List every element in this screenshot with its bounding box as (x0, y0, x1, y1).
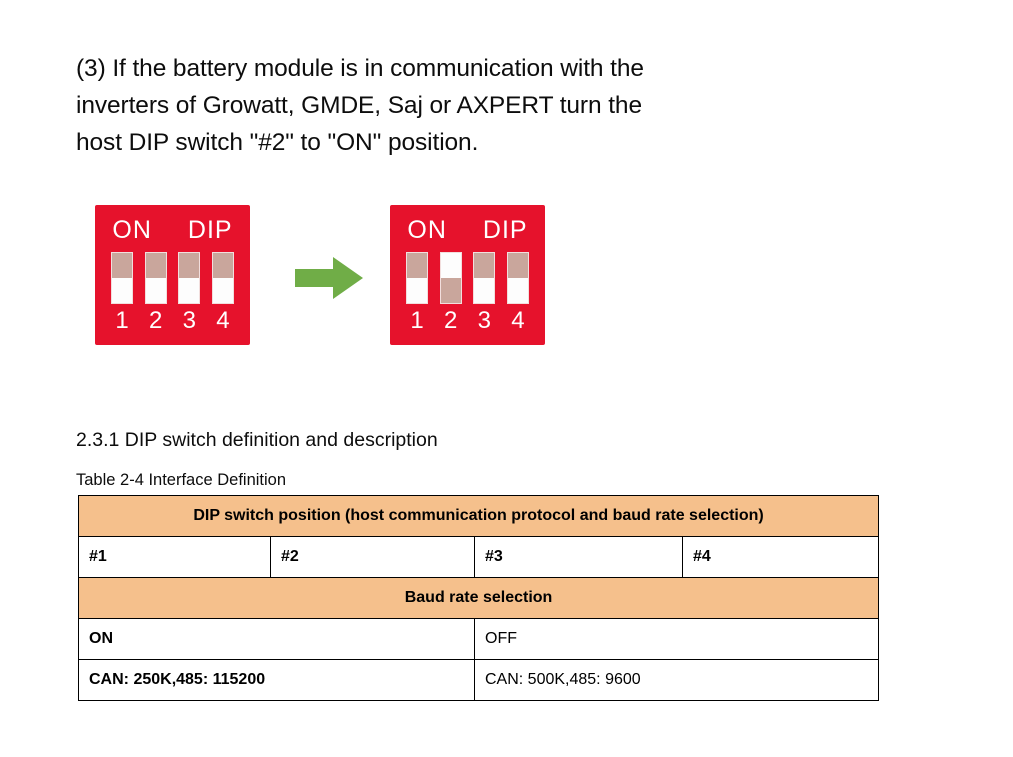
table-row-values: CAN: 250K,485: 115200 CAN: 500K,485: 960… (79, 660, 879, 701)
dip-switch-before-numbers: 1 2 3 4 (111, 308, 234, 338)
dip-label: DIP (483, 218, 528, 243)
state-cell-on: ON (79, 619, 475, 660)
dip-slider-1[interactable] (406, 252, 428, 304)
slider-actuator (508, 278, 528, 303)
on-label: ON (407, 218, 447, 243)
switch-cell-2: #2 (271, 537, 475, 578)
dip-label: DIP (188, 218, 233, 243)
dip-switch-before: ON DIP 1 2 3 4 (95, 205, 250, 345)
slider-actuator (474, 278, 494, 303)
dip-switch-before-labels: ON DIP (95, 215, 250, 245)
dip-number-3: 3 (473, 308, 495, 338)
dip-number-4: 4 (212, 308, 234, 338)
slider-top (146, 253, 166, 278)
table-row-switch-columns: #1 #2 #3 #4 (79, 537, 879, 578)
slider-top (112, 253, 132, 278)
dip-number-4: 4 (507, 308, 529, 338)
dip-switch-after-labels: ON DIP (390, 215, 545, 245)
dip-number-2: 2 (145, 308, 167, 338)
table-row-baud-banner: Baud rate selection (79, 578, 879, 619)
dip-slider-1[interactable] (111, 252, 133, 304)
dip-switch-figure: ON DIP 1 2 3 4 (95, 205, 555, 347)
switch-cell-4: #4 (683, 537, 879, 578)
slider-actuator (407, 278, 427, 303)
dip-number-3: 3 (178, 308, 200, 338)
slider-top (407, 253, 427, 278)
slider-actuator (179, 278, 199, 303)
switch-cell-1: #1 (79, 537, 271, 578)
dip-switch-after: ON DIP 1 2 3 4 (390, 205, 545, 345)
dip-slider-4[interactable] (212, 252, 234, 304)
state-cell-off: OFF (475, 619, 879, 660)
value-cell-on: CAN: 250K,485: 115200 (79, 660, 475, 701)
switch-cell-3: #3 (475, 537, 683, 578)
section-heading: 2.3.1 DIP switch definition and descript… (76, 428, 438, 453)
slider-actuator (441, 253, 461, 278)
dip-switch-after-numbers: 1 2 3 4 (406, 308, 529, 338)
dip-number-1: 1 (111, 308, 133, 338)
dip-switch-before-sliders (111, 252, 234, 304)
slider-top (213, 253, 233, 278)
dip-slider-2[interactable] (145, 252, 167, 304)
table-caption: Table 2-4 Interface Definition (76, 470, 286, 491)
slider-top (474, 253, 494, 278)
slider-actuator (112, 278, 132, 303)
dip-number-2: 2 (440, 308, 462, 338)
intro-paragraph: (3) If the battery module is in communic… (76, 50, 676, 161)
dip-slider-2[interactable] (440, 252, 462, 304)
slider-actuator (213, 278, 233, 303)
arrow-right-icon (295, 257, 363, 299)
dip-switch-position-banner: DIP switch position (host communication … (79, 496, 879, 537)
table-row-state: ON OFF (79, 619, 879, 660)
dip-slider-4[interactable] (507, 252, 529, 304)
table-row-header-banner: DIP switch position (host communication … (79, 496, 879, 537)
slider-bottom (441, 278, 461, 303)
dip-slider-3[interactable] (178, 252, 200, 304)
slider-top (179, 253, 199, 278)
dip-slider-3[interactable] (473, 252, 495, 304)
dip-switch-after-sliders (406, 252, 529, 304)
on-label: ON (112, 218, 152, 243)
slider-top (508, 253, 528, 278)
interface-definition-table: DIP switch position (host communication … (78, 495, 879, 701)
value-cell-off: CAN: 500K,485: 9600 (475, 660, 879, 701)
baud-rate-selection-banner: Baud rate selection (79, 578, 879, 619)
dip-number-1: 1 (406, 308, 428, 338)
slider-actuator (146, 278, 166, 303)
